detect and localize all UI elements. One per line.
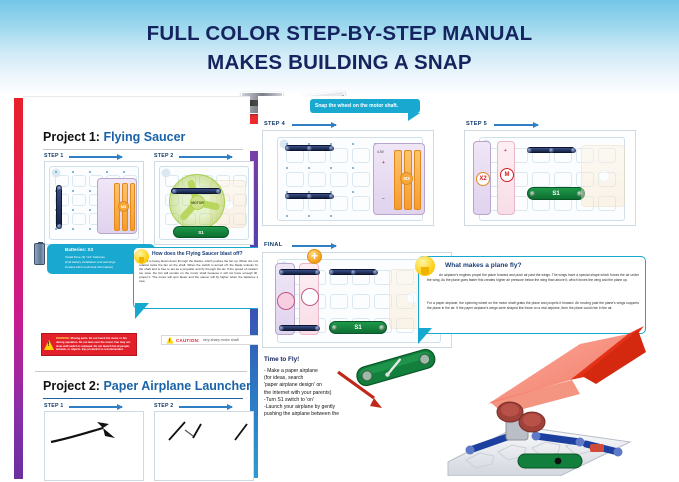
fan-hub: MOTOR [190, 195, 205, 210]
battery-note-title: Batteries: X3 [65, 247, 93, 252]
header-line-1: FULL COLOR STEP-BY-STEP MANUAL [147, 20, 533, 47]
switch-s1-label: S1 [354, 325, 361, 331]
flying-saucer-callout: How does the Flying Saucer blast off? Th… [133, 247, 263, 309]
step5-circuit: X2 M + S1 [464, 130, 636, 226]
time-to-fly-title: Time to Fly! [264, 356, 299, 363]
project1-number: Project 1: [43, 130, 100, 144]
battery-plus-sign: + [382, 160, 385, 166]
battery-holder: M3 4.5V + − [373, 143, 425, 215]
spine-left-gradient [14, 98, 23, 479]
project1-step1-label: STEP 1 [44, 153, 64, 159]
step4-circuit: M3 4.5V + − [262, 130, 434, 226]
lightbulb-icon [134, 249, 149, 264]
motor-plus-sign: + [504, 148, 507, 154]
wheel-symbol-right [301, 288, 319, 306]
flying-saucer-callout-title: How does the Flying Saucer blast off? [152, 251, 264, 257]
top-instruction-banner: Snap the wheel on the motor shaft. [310, 99, 420, 113]
project2-step1-label: STEP 1 [44, 403, 64, 409]
project2-step2-circuit [154, 411, 254, 481]
snap-wire-bottom [285, 193, 333, 199]
plane-fly-paragraph-2: For a paper airplane, the spinning wheel… [427, 301, 639, 310]
battery-note-line-2: (Full battery installation and warnings [65, 260, 115, 264]
top-banner-tail [408, 113, 420, 121]
plane-fly-paragraph-1: An airplane's engines propel the plane f… [427, 273, 639, 282]
switch-s1-label: S1 [552, 191, 559, 197]
motor-module: X2 [473, 141, 491, 215]
header-line-2: MAKES BUILDING A SNAP [207, 49, 472, 76]
step5-arrow [494, 124, 538, 126]
snap-wire-right [329, 269, 377, 275]
red-arrow-icon [334, 368, 390, 412]
snap-wire-top [279, 269, 319, 275]
fan-symbol-x2: X2 [476, 172, 490, 186]
motor-symbol: M3 [118, 201, 129, 212]
project2-step1-arrow [69, 406, 122, 408]
project2-number: Project 2: [43, 379, 100, 393]
plane-fly-callout-title: What makes a plane fly? [445, 262, 522, 269]
step4-arrow [292, 124, 336, 126]
battery-note-line-3: located within technical information) [65, 265, 113, 269]
snap-wire-vertical [56, 185, 62, 229]
motor-symbol-ghost [406, 292, 418, 304]
motor-symbol-ghost [224, 200, 234, 210]
battery-holder: M3 [97, 178, 137, 234]
step5-label: STEP 5 [466, 121, 487, 127]
project1-step1-circuit: M3 [44, 161, 144, 245]
time-to-fly-line-7: pushing the airplane between the [264, 411, 370, 418]
project2-step1-circuit [44, 411, 144, 481]
warning-triangle-icon [44, 340, 54, 350]
project2-name: Paper Airplane Launcher [103, 379, 251, 393]
battery-icon [34, 243, 45, 265]
motor-unit: M + [497, 141, 515, 215]
warning-keyword: WARNING: [56, 337, 70, 340]
callout-tail [135, 303, 149, 319]
project1-rule [43, 149, 243, 150]
snap-wire-top [285, 145, 333, 151]
motor-symbol-ghost [598, 170, 610, 182]
switch-s1: S1 [329, 321, 387, 334]
switch-s1: S1 [527, 187, 585, 200]
project1-step2-arrow [179, 156, 232, 158]
fold-diagram-1 [45, 416, 145, 456]
caution-box: CAUTION: very sharp motor shaft [161, 335, 261, 345]
project1-title: Project 1: Flying Saucer [43, 130, 185, 144]
caution-label: CAUTION: [176, 338, 200, 343]
project2-top-rule [35, 371, 247, 372]
warning-box: WARNING: Moving parts. Do not touch the … [41, 333, 137, 356]
project2-step2-arrow [179, 406, 232, 408]
lightbulb-icon [415, 256, 435, 276]
left-page: Project 1: Flying Saucer STEP 1 [23, 96, 250, 482]
final-step-label: FINAL [264, 242, 283, 248]
flying-saucer-callout-body: The air is being blown down through the … [139, 259, 261, 283]
caution-body: very sharp motor shaft [203, 338, 239, 342]
project1-name: Flying Saucer [103, 130, 185, 144]
fan-blade-assembly: MOTOR [169, 174, 225, 230]
battery-voltage-label: 4.5V [377, 150, 384, 154]
promo-header: FULL COLOR STEP-BY-STEP MANUAL MAKES BUI… [0, 0, 679, 96]
battery-note-line-1: Install three (3) "AA" batteries [65, 255, 105, 259]
motor-symbol-m: M [500, 168, 514, 182]
screenshot-root: FULL COLOR STEP-BY-STEP MANUAL MAKES BUI… [0, 0, 679, 482]
plus-badge-icon: + [307, 249, 322, 264]
motor-symbol: M3 [400, 172, 413, 185]
project2-rule [43, 398, 243, 399]
project1-step1-arrow [69, 156, 122, 158]
snap-wire-fan [171, 188, 221, 194]
final-step-arrow [292, 245, 336, 247]
warning-text: WARNING: Moving parts. Do not touch the … [56, 337, 134, 351]
snap-circuit-launcher-photo [440, 396, 640, 476]
switch-s1: S1 [173, 226, 229, 238]
battery-holder-ghost [581, 145, 625, 207]
project1-step2-label: STEP 2 [154, 153, 174, 159]
snap-wire-bottom [279, 325, 319, 331]
fold-diagram-2 [155, 416, 255, 456]
project2-title: Project 2: Paper Airplane Launcher [43, 379, 251, 393]
battery-minus-sign: − [382, 196, 385, 202]
snap-wire-top [527, 147, 575, 153]
wheel-symbol-left [277, 292, 295, 310]
step4-label: STEP 4 [264, 121, 285, 127]
caution-triangle-icon [167, 337, 174, 344]
right-page: Snap the wheel on the motor shaft. STEP … [258, 96, 661, 482]
project1-step2-circuit: MOTOR S1 [154, 161, 254, 245]
manual-spread: STEM Project 1: Flying Saucer STEP 1 [14, 96, 665, 482]
project2-step2-label: STEP 2 [154, 403, 174, 409]
